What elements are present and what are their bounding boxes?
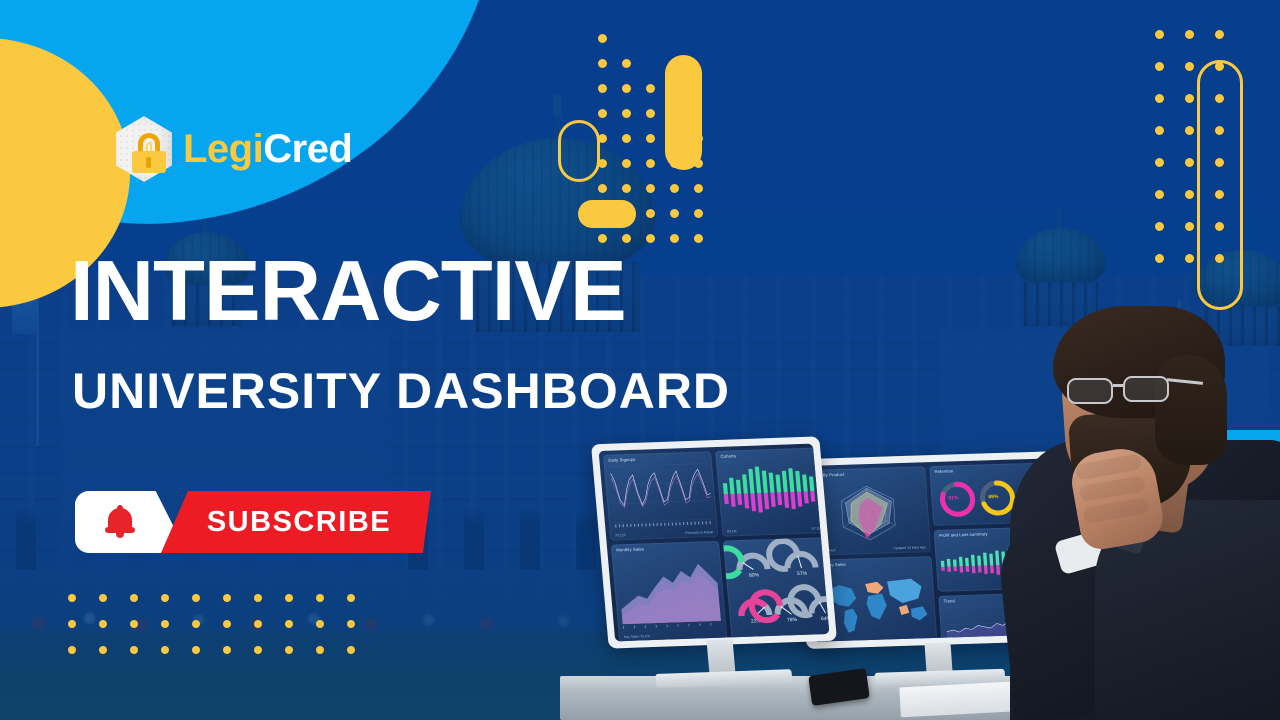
- grid-dot: [192, 594, 200, 602]
- grid-dot: [598, 34, 607, 43]
- grid-dot: [192, 646, 200, 654]
- grid-dot: [670, 209, 679, 218]
- grid-dot: [161, 646, 169, 654]
- panel-daily-signups[interactable]: Daily Signups 75,123 Forecast vs Actual: [603, 451, 719, 540]
- promo-banner: LegiCred INTERACTIVE UNIVERSITY DASHBOAR…: [0, 0, 1280, 720]
- grid-dot: [646, 159, 655, 168]
- grid-dot: [646, 134, 655, 143]
- grid-dot: [1155, 30, 1164, 39]
- grid-dot: [646, 209, 655, 218]
- grid-dot: [99, 646, 107, 654]
- retention-value-1: 81%: [948, 495, 958, 501]
- area-chart: [611, 541, 728, 642]
- subscribe-banner[interactable]: SUBSCRIBE: [161, 491, 431, 553]
- grid-dot: [694, 209, 703, 218]
- panel-monthly-sales[interactable]: Monthly Sales Key Sales 75 K% Aug 17 135…: [611, 541, 728, 642]
- grid-dot: [646, 84, 655, 93]
- grid-dot: [1185, 222, 1194, 231]
- grid-dot: [1155, 62, 1164, 71]
- grid-dot: [622, 159, 631, 168]
- yellow-pill-outline-small: [558, 120, 600, 182]
- grid-dot: [68, 620, 76, 628]
- grid-dot: [598, 84, 607, 93]
- bell-clapper: [116, 533, 124, 538]
- grid-dot: [161, 620, 169, 628]
- yellow-pill-tall: [665, 55, 702, 170]
- grid-dot: [646, 234, 655, 243]
- subscribe-label: SUBSCRIBE: [207, 506, 391, 539]
- glasses-bridge: [1113, 384, 1125, 387]
- gauge-chart-group: 80%57%22%78%64%: [723, 537, 830, 641]
- grid-dot: [1185, 254, 1194, 263]
- grid-dot: [192, 620, 200, 628]
- grid-dot: [254, 646, 262, 654]
- grid-dot: [598, 184, 607, 193]
- grid-dot: [670, 234, 679, 243]
- svg-text:78%: 78%: [787, 617, 798, 623]
- grid-dot: [130, 620, 138, 628]
- person-photo: [975, 300, 1280, 720]
- grid-dot: [223, 620, 231, 628]
- grid-dot: [223, 646, 231, 654]
- grid-dot: [598, 59, 607, 68]
- grid-dot: [646, 109, 655, 118]
- grid-dot: [99, 620, 107, 628]
- grid-dot: [254, 594, 262, 602]
- grid-dot: [68, 646, 76, 654]
- person-glasses: [1067, 376, 1177, 406]
- left-monitor-screen[interactable]: Daily Signups 75,123 Forecast vs Actual …: [599, 444, 830, 642]
- grid-dot: [285, 594, 293, 602]
- yellow-pill-outline-tall: [1197, 60, 1243, 310]
- grid-dot: [622, 184, 631, 193]
- grid-dot: [254, 620, 262, 628]
- grid-dot: [347, 646, 355, 654]
- panel-gauges[interactable]: 80%57%22%78%64% Last 30 Days: [723, 537, 830, 641]
- grid-dot: [622, 84, 631, 93]
- glasses-lens-right: [1123, 376, 1169, 402]
- grid-dot: [1155, 222, 1164, 231]
- grid-dot: [347, 620, 355, 628]
- grid-dot: [622, 234, 631, 243]
- grid-dot: [694, 184, 703, 193]
- brand-name: LegiCred: [183, 129, 352, 169]
- page-title: INTERACTIVE: [70, 252, 626, 333]
- yellow-pill-small: [578, 200, 636, 228]
- brand-logo[interactable]: LegiCred: [113, 116, 352, 182]
- grid-dot: [285, 646, 293, 654]
- panel-footer-right: 57.1M: [812, 526, 822, 530]
- bell-icon: [105, 505, 135, 539]
- brand-name-part2: Cred: [263, 127, 352, 171]
- grid-dot: [622, 109, 631, 118]
- grid-dot: [1185, 126, 1194, 135]
- grid-dot: [1155, 94, 1164, 103]
- grid-dot: [1215, 30, 1224, 39]
- grid-dot: [1185, 94, 1194, 103]
- grid-dot: [1185, 30, 1194, 39]
- svg-text:57%: 57%: [797, 571, 808, 577]
- grid-dot: [68, 594, 76, 602]
- grid-dot: [670, 184, 679, 193]
- grid-dot: [130, 646, 138, 654]
- grid-dot: [598, 234, 607, 243]
- grid-dot: [130, 594, 138, 602]
- glasses-lens-left: [1067, 378, 1113, 404]
- grid-dot: [316, 594, 324, 602]
- grid-dot: [646, 184, 655, 193]
- yellow-dot-grid-bottom-left: [68, 594, 358, 664]
- grid-dot: [161, 594, 169, 602]
- grid-dot: [1155, 190, 1164, 199]
- grid-dot: [1185, 62, 1194, 71]
- grid-dot: [223, 594, 231, 602]
- line-chart: [603, 451, 719, 540]
- panel-footer-left: 75,123: [615, 533, 626, 537]
- panel-footer-left: 83.1M: [727, 529, 737, 533]
- grid-dot: [622, 134, 631, 143]
- grid-dot: [316, 646, 324, 654]
- page-subtitle: UNIVERSITY DASHBOARD: [72, 366, 730, 416]
- grid-dot: [347, 594, 355, 602]
- grid-dot: [1155, 158, 1164, 167]
- grid-dot: [694, 234, 703, 243]
- grid-dot: [622, 59, 631, 68]
- svg-text:80%: 80%: [749, 572, 760, 578]
- grid-dot: [99, 594, 107, 602]
- left-monitor[interactable]: Daily Signups 75,123 Forecast vs Actual …: [591, 436, 837, 648]
- hexagon-padlock-icon: [113, 116, 175, 182]
- padlock-body: [132, 151, 166, 173]
- grid-dot: [598, 109, 607, 118]
- brand-name-part1: Legi: [183, 127, 263, 171]
- grid-dot: [1155, 254, 1164, 263]
- grid-dot: [316, 620, 324, 628]
- subscribe-button[interactable]: SUBSCRIBE: [75, 491, 431, 553]
- person-hair-side: [1155, 355, 1227, 465]
- grid-dot: [1185, 190, 1194, 199]
- padlock-icon: [132, 133, 166, 173]
- bar-chart: [715, 447, 827, 536]
- grid-dot: [285, 620, 293, 628]
- panel-cohorts[interactable]: Cohorts 83.1M 57.1M: [715, 447, 827, 536]
- grid-dot: [1185, 158, 1194, 167]
- grid-dot: [1155, 126, 1164, 135]
